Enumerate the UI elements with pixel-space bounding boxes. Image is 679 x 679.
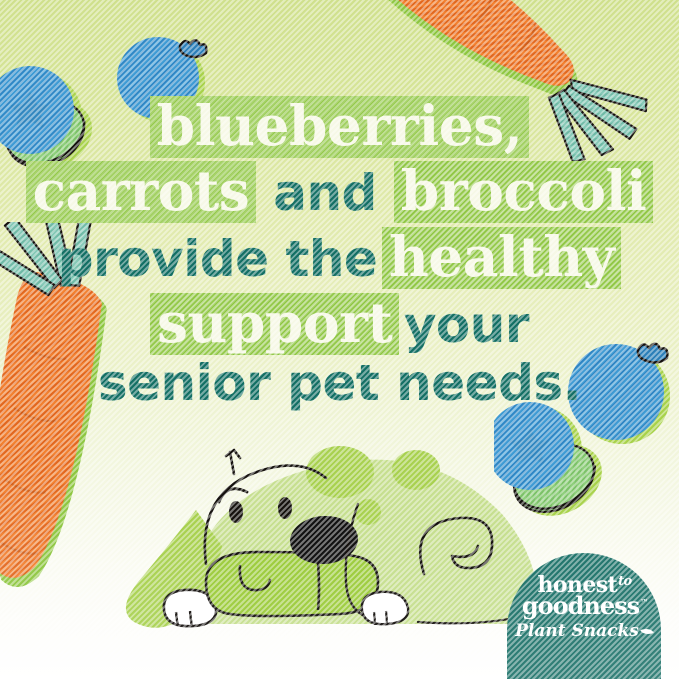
headline-word-support: support bbox=[150, 293, 399, 355]
headline-word-your: your bbox=[404, 296, 529, 354]
headline-phrase-provide-the: provide the bbox=[58, 230, 378, 288]
headline-word-broccoli: broccoli bbox=[394, 161, 654, 223]
headline-word-healthy: healthy bbox=[382, 227, 621, 289]
logo-word-to: to bbox=[618, 574, 631, 589]
trademark-symbol: ™ bbox=[640, 597, 647, 607]
headline-block: blueberries, carrots and broccoli provid… bbox=[0, 96, 679, 408]
headline-line-2: carrots and broccoli bbox=[0, 161, 679, 223]
headline-phrase-senior-pet-needs: senior pet needs. bbox=[98, 354, 581, 412]
headline-line-5: senior pet needs. bbox=[0, 359, 679, 408]
headline-line-3: provide the healthy bbox=[0, 227, 679, 289]
headline-word-carrots: carrots bbox=[26, 161, 257, 223]
headline-line-1: blueberries, bbox=[0, 96, 679, 158]
brand-logo[interactable]: honestto goodness™ Plant Snacks bbox=[507, 553, 661, 679]
headline-word-and: and bbox=[256, 164, 393, 222]
dog-illustration bbox=[118, 414, 538, 679]
logo-line-goodness: goodness™ bbox=[522, 595, 646, 617]
leaf-icon bbox=[640, 627, 654, 637]
logo-word-goodness: goodness bbox=[522, 591, 639, 620]
headline-word-blueberries: blueberries, bbox=[150, 96, 530, 158]
logo-text-group: honestto goodness™ Plant Snacks bbox=[507, 553, 661, 679]
logo-tagline-text: Plant Snacks bbox=[515, 621, 639, 641]
ad-canvas: blueberries, carrots and broccoli provid… bbox=[0, 0, 679, 679]
headline-line-4: support your bbox=[0, 293, 679, 355]
logo-tagline: Plant Snacks bbox=[515, 621, 653, 641]
